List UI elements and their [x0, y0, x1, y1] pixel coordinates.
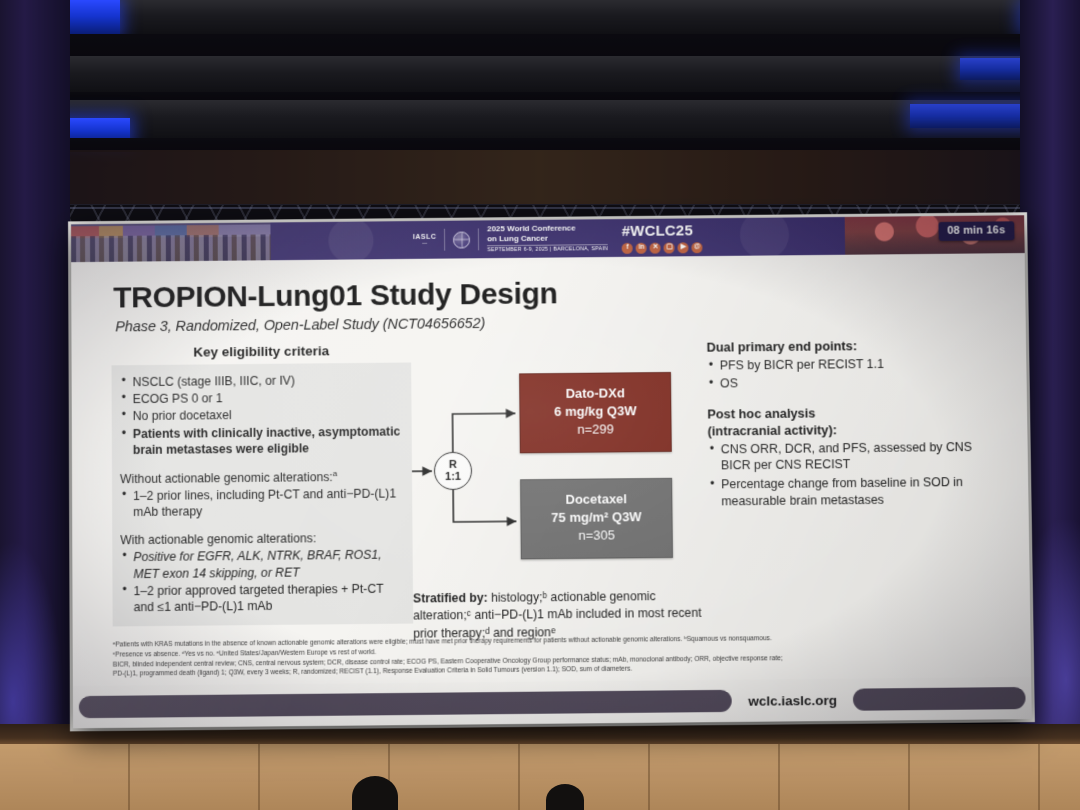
list-item: 1–2 prior approved targeted therapies + …: [120, 580, 403, 615]
slide-columns: Key eligibility criteria NSCLC (stage II…: [111, 337, 1004, 646]
hashtag-block: #WCLC25 f in ✕ ▢ ▶ @: [622, 222, 703, 254]
arm-name: Dato-DXd: [526, 384, 664, 403]
iaslc-word: IASLC: [413, 233, 436, 240]
posthoc-list: CNS ORR, DCR, and PFS, assessed by CNS B…: [708, 438, 1003, 510]
primary-endpoints-heading: Dual primary end points:: [706, 337, 1000, 356]
iaslc-logo-lockup: IASLC — 2025 World Conference on Lung Ca…: [413, 224, 608, 255]
banner-divider-1: [444, 229, 445, 250]
footer-url: wclc.iaslc.org: [732, 692, 853, 708]
conference-hashtag: #WCLC25: [622, 222, 693, 240]
eligibility-panel: NSCLC (stage IIIB, IIIC, or IV) ECOG PS …: [112, 362, 414, 626]
treatment-arm-dato-dxd: Dato-DXd 6 mg/kg Q3W n=299: [519, 372, 672, 453]
conference-line-2: on Lung Cancer: [487, 233, 608, 243]
footer-bar-right: [853, 687, 1026, 711]
stratification-label: Stratified by:: [413, 591, 488, 606]
list-item: 1–2 prior lines, including Pt-CT and ant…: [120, 485, 402, 520]
social-icon-row: f in ✕ ▢ ▶ @: [622, 242, 703, 254]
ceiling-slab-upper: [0, 0, 1080, 34]
eligibility-heading: Key eligibility criteria: [111, 343, 411, 361]
arm-name: Docetaxel: [527, 490, 665, 510]
randomization-flow-column: R 1:1 Dato-DXd 6 mg/kg Q3W n=299 Docetax…: [411, 340, 702, 643]
list-item: Positive for EGFR, ALK, NTRK, BRAF, ROS1…: [120, 547, 403, 582]
with-alterations-group: With actionable genomic alterations: Pos…: [120, 531, 403, 616]
linkedin-icon[interactable]: in: [636, 242, 647, 253]
session-timer-badge: 08 min 16s: [938, 221, 1014, 241]
x-twitter-icon[interactable]: ✕: [650, 242, 661, 253]
iaslc-sub: —: [413, 241, 436, 246]
threads-icon[interactable]: @: [692, 242, 703, 253]
upper-wall-panel: [0, 150, 1080, 208]
instagram-icon[interactable]: ▢: [664, 242, 675, 253]
endpoints-column: Dual primary end points: PFS by BICR per…: [699, 337, 1003, 525]
list-item: Percentage change from baseline in SOD i…: [708, 474, 1002, 511]
page-subtitle: Phase 3, Randomized, Open-Label Study (N…: [115, 311, 1000, 335]
list-item: NSCLC (stage IIIB, IIIC, or IV): [120, 372, 402, 391]
list-item: PFS by BICR per RECIST 1.1: [707, 354, 1001, 374]
arm-dose: 6 mg/kg Q3W: [526, 402, 664, 421]
posthoc-analysis-block: Post hoc analysis (intracranial activity…: [707, 404, 1002, 510]
projection-screen: IASLC — 2025 World Conference on Lung Ca…: [71, 215, 1032, 728]
eligibility-column: Key eligibility criteria NSCLC (stage II…: [111, 343, 413, 627]
primary-endpoints-list: PFS by BICR per RECIST 1.1 OS: [707, 354, 1001, 392]
treatment-arm-docetaxel: Docetaxel 75 mg/m² Q3W n=305: [520, 478, 673, 559]
randomization-node: R 1:1: [434, 452, 472, 490]
globe-icon: [453, 231, 470, 248]
list-item: OS: [707, 373, 1001, 393]
posthoc-heading-line-2: (intracranial activity):: [707, 421, 1001, 440]
banner-divider-2: [478, 229, 479, 250]
primary-endpoints-block: Dual primary end points: PFS by BICR per…: [706, 337, 1000, 393]
conference-dates: SEPTEMBER 6-9, 2025 | BARCELONA, SPAIN: [487, 244, 608, 254]
ceiling-void-mid: [0, 92, 1080, 100]
slide-content: TROPION-Lung01 Study Design Phase 3, Ran…: [71, 253, 1031, 686]
arm-n: n=299: [527, 420, 665, 439]
footnote-marker-a: a: [333, 469, 338, 478]
list-item: Patients with clinically inactive, asymp…: [120, 423, 402, 458]
footnotes: ᵃPatients with KRAS mutations in the abs…: [113, 632, 1005, 680]
banner-photo-left: [71, 222, 271, 262]
arm-n: n=305: [528, 526, 666, 546]
with-alterations-list: Positive for EGFR, ALK, NTRK, BRAF, ROS1…: [120, 547, 403, 616]
without-alterations-list: 1–2 prior lines, including Pt-CT and ant…: [120, 485, 402, 520]
audience-head-right: [546, 784, 584, 810]
facebook-icon[interactable]: f: [622, 242, 633, 253]
youtube-icon[interactable]: ▶: [678, 242, 689, 253]
list-item: No prior docetaxel: [120, 406, 402, 425]
conference-name: 2025 World Conference on Lung Cancer SEP…: [487, 224, 608, 254]
without-alterations-label: Without actionable genomic alterations:: [120, 470, 333, 486]
iaslc-wordmark: IASLC —: [413, 233, 437, 246]
banner-center: IASLC — 2025 World Conference on Lung Ca…: [270, 217, 845, 260]
list-item: ECOG PS 0 or 1: [120, 389, 402, 408]
page-title: TROPION-Lung01 Study Design: [113, 273, 999, 315]
list-item: CNS ORR, DCR, and PFS, assessed by CNS B…: [708, 438, 1002, 475]
eligibility-list: NSCLC (stage IIIB, IIIC, or IV) ECOG PS …: [120, 372, 402, 459]
flow-diagram: R 1:1 Dato-DXd 6 mg/kg Q3W n=299 Docetax…: [411, 370, 701, 585]
footer-bar-left: [79, 690, 732, 718]
without-alterations-group: Without actionable genomic alterations:a…: [120, 469, 402, 521]
stage-wood-wall: [0, 744, 1080, 810]
randomization-ratio: 1:1: [445, 471, 461, 483]
ceiling-slab-mid: [0, 56, 1080, 92]
audience-head-left: [352, 776, 398, 810]
randomization-label: R: [449, 459, 457, 471]
arm-dose: 75 mg/m² Q3W: [527, 508, 665, 528]
